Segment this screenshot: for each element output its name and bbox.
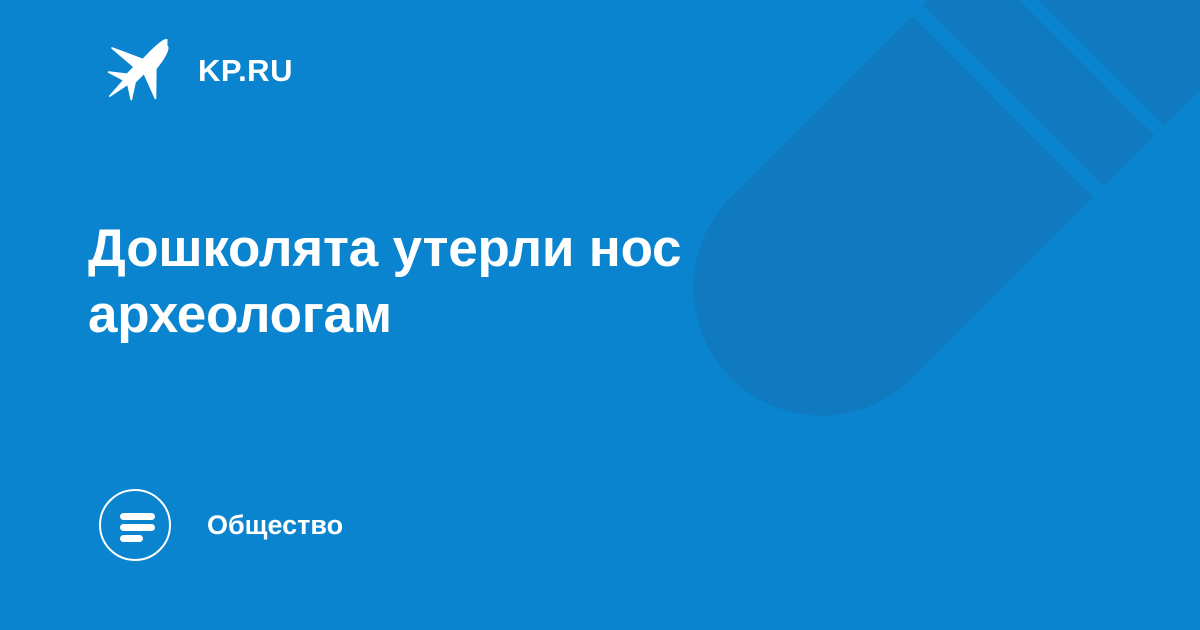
hamburger-lines-icon [99,489,171,561]
brand-header[interactable]: KP.RU [104,34,293,106]
rubric[interactable]: Общество [99,489,343,561]
page-title: Дошколята утерли нос археологам [88,216,788,348]
rubric-label: Общество [207,512,343,539]
hamburger-line-3 [120,535,143,542]
share-card: KP.RU Дошколята утерли нос археологам Об… [0,0,1200,630]
hamburger-line-2 [120,524,155,531]
swallow-bird-icon [104,34,176,106]
hamburger-line-1 [120,513,155,520]
brand-wordmark: KP.RU [198,55,293,86]
